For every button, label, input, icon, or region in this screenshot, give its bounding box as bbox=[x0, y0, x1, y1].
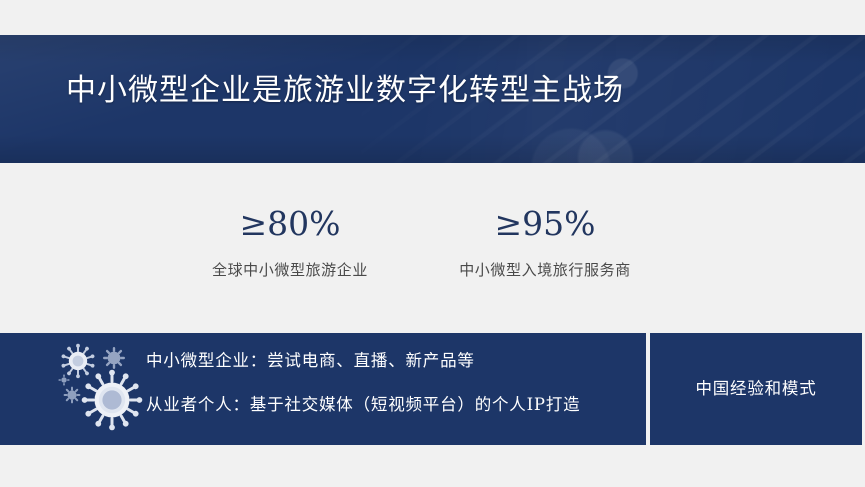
stat-value: ≥95% bbox=[425, 205, 665, 243]
bottom-band-line-2: 从业者个人：基于社交媒体（短视频平台）的个人IP打造 bbox=[146, 395, 638, 415]
stat-label: 全球中小微型旅游企业 bbox=[170, 260, 410, 280]
statistics-region: ≥80% 全球中小微型旅游企业 ≥95% 中小微型入境旅行服务商 bbox=[0, 163, 865, 333]
stat-block-inbound-providers: ≥95% 中小微型入境旅行服务商 bbox=[425, 205, 665, 280]
stat-value: ≥80% bbox=[170, 205, 410, 243]
bottom-band-text-lines: 中小微型企业：尝试电商、直播、新产品等 从业者个人：基于社交媒体（短视频平台）的… bbox=[146, 351, 638, 415]
virus-cluster-icon bbox=[56, 340, 148, 432]
bottom-band-right-label: 中国经验和模式 bbox=[695, 379, 816, 399]
bottom-band-right-section: 中国经验和模式 bbox=[650, 333, 862, 445]
presentation-slide: 中小微型企业是旅游业数字化转型主战场 ≥80% 全球中小微型旅游企业 ≥95% … bbox=[0, 0, 865, 487]
slide-bottom-margin bbox=[0, 445, 865, 487]
page-title: 中小微型企业是旅游业数字化转型主战场 bbox=[66, 74, 624, 108]
stat-label: 中小微型入境旅行服务商 bbox=[425, 260, 665, 280]
bottom-band-line-1: 中小微型企业：尝试电商、直播、新产品等 bbox=[146, 351, 638, 371]
stat-block-global-sme: ≥80% 全球中小微型旅游企业 bbox=[170, 205, 410, 280]
slide-top-margin bbox=[0, 0, 865, 35]
